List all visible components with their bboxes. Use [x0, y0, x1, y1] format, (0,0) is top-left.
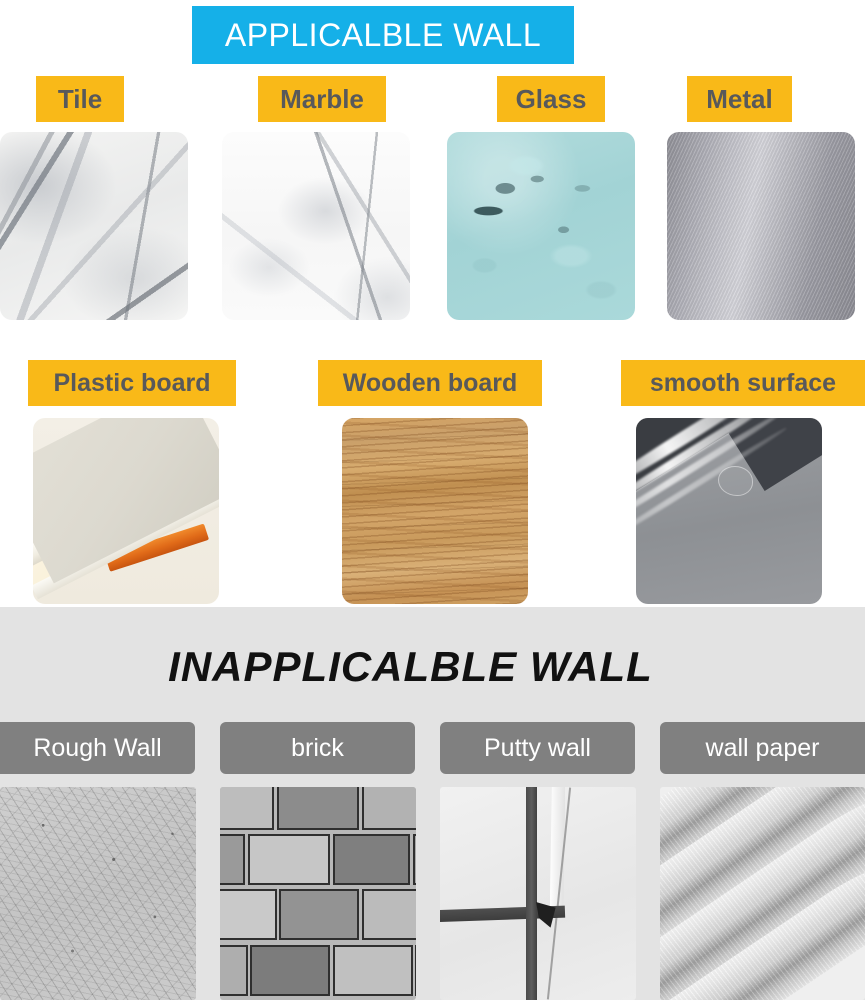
label-metal: Metal: [687, 76, 792, 122]
image-smooth-surface: [636, 418, 822, 604]
label-smooth-surface-text: smooth surface: [650, 369, 836, 398]
label-putty-wall: Putty wall: [440, 722, 635, 774]
label-glass: Glass: [497, 76, 605, 122]
label-rough-wall: Rough Wall: [0, 722, 195, 774]
image-marble: [222, 132, 410, 320]
image-wooden-board: [342, 418, 528, 604]
image-plastic-board: [33, 418, 219, 604]
image-putty-wall: [440, 787, 636, 1000]
smooth-surface-texture: [636, 418, 822, 604]
label-plastic-board: Plastic board: [28, 360, 236, 406]
label-brick-text: brick: [291, 734, 344, 763]
image-wall-paper: [660, 787, 865, 1000]
image-brick: [220, 787, 416, 1000]
label-smooth-surface: smooth surface: [621, 360, 865, 406]
applicable-banner-label: APPLICALBLE WALL: [225, 17, 541, 54]
glass-texture: [447, 132, 635, 320]
brick-texture: [220, 787, 416, 1000]
label-wall-paper-text: wall paper: [706, 734, 820, 763]
tile-texture: [0, 132, 188, 320]
infographic-page: APPLICALBLE WALL Tile Marble Glass Metal: [0, 0, 865, 1000]
label-metal-text: Metal: [706, 84, 772, 115]
label-tile: Tile: [36, 76, 124, 122]
plastic-board-texture: [33, 418, 219, 604]
applicable-wall-section: APPLICALBLE WALL Tile Marble Glass Metal: [0, 0, 865, 607]
label-wall-paper: wall paper: [660, 722, 865, 774]
label-rough-wall-text: Rough Wall: [33, 734, 161, 763]
label-wooden-board: Wooden board: [318, 360, 542, 406]
label-brick: brick: [220, 722, 415, 774]
metal-texture: [667, 132, 855, 320]
label-marble-text: Marble: [280, 84, 364, 115]
applicable-banner: APPLICALBLE WALL: [192, 6, 574, 64]
label-glass-text: Glass: [516, 84, 587, 115]
putty-wall-texture: [440, 787, 636, 1000]
image-metal: [667, 132, 855, 320]
label-wooden-board-text: Wooden board: [343, 369, 518, 398]
wooden-board-texture: [342, 418, 528, 604]
image-tile: [0, 132, 188, 320]
image-rough-wall: [0, 787, 196, 1000]
label-tile-text: Tile: [58, 84, 102, 115]
label-plastic-board-text: Plastic board: [54, 369, 211, 398]
rough-wall-texture: [0, 787, 196, 1000]
wall-paper-texture: [660, 787, 865, 1000]
inapplicable-title: INAPPLICALBLE WALL: [0, 643, 843, 691]
inapplicable-wall-section: INAPPLICALBLE WALL Rough Wall brick: [0, 607, 865, 1000]
image-glass: [447, 132, 635, 320]
marble-texture: [222, 132, 410, 320]
label-putty-wall-text: Putty wall: [484, 734, 591, 763]
label-marble: Marble: [258, 76, 386, 122]
